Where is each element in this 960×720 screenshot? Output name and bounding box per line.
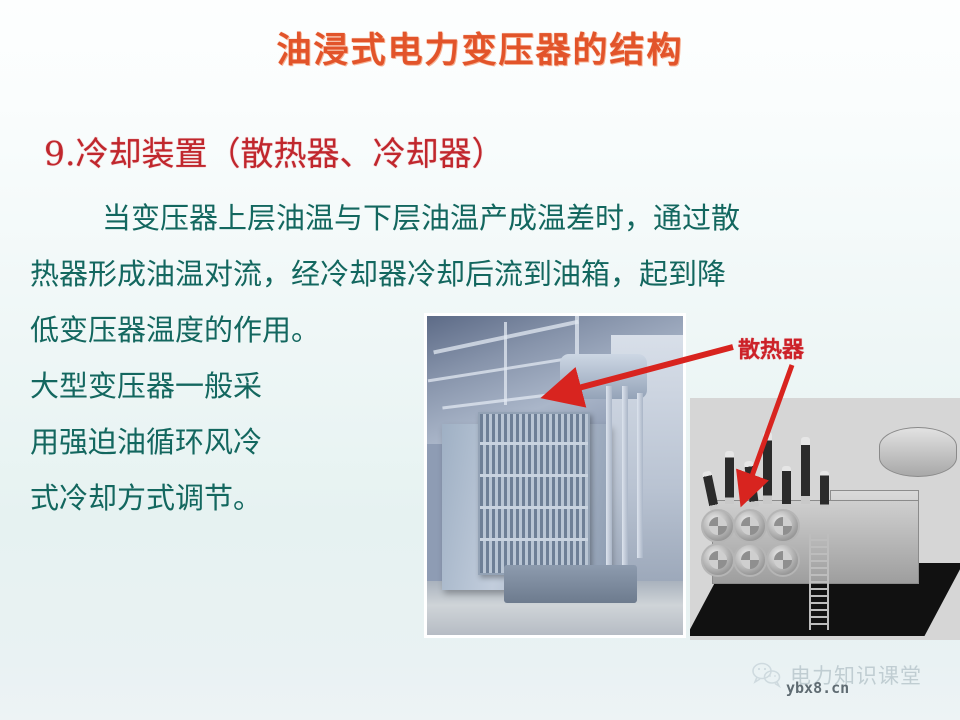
slide-canvas: 油浸式电力变压器的结构 9.冷却装置（散热器、冷却器） 当变压器上层油温与下层油… [0, 0, 960, 720]
photo-riser-pipe [606, 386, 612, 565]
render-cooling-fan [701, 543, 735, 577]
render-cooling-fan [766, 543, 800, 577]
render-conservator-tank [879, 427, 957, 477]
body-line-5: 用强迫油循环风冷 [30, 414, 450, 470]
annotation-label-radiator: 散热器 [738, 332, 804, 364]
photo-riser-pipe [637, 393, 643, 559]
body-line-4: 大型变压器一般采 [30, 358, 450, 414]
photo-base-frame [504, 565, 637, 603]
photo-riser-pipe [622, 386, 628, 565]
section-heading: 9.冷却装置（散热器、冷却器） [44, 127, 505, 175]
render-ladder [809, 534, 829, 631]
render-cooling-fan [766, 509, 800, 543]
cooler-transformer-render [690, 398, 960, 640]
render-cooling-fan [701, 509, 735, 543]
photo-transformer-tank [560, 354, 647, 399]
wechat-icon [752, 662, 782, 688]
render-bushing [820, 471, 829, 510]
photo-column [504, 322, 507, 405]
render-bushing [801, 437, 810, 505]
watermark-url: ybx8.cn [786, 679, 849, 697]
render-bushing [725, 451, 734, 504]
render-bushing [702, 470, 719, 510]
photo-radiator [478, 412, 590, 576]
body-line-2: 热器形成油温对流，经冷却器冷却后流到油箱，起到降 [30, 246, 930, 302]
render-bushing [782, 466, 791, 510]
render-bushing [763, 432, 772, 505]
body-line-6: 式冷却方式调节。 [30, 470, 450, 526]
factory-transformer-photo [424, 313, 686, 638]
body-line-1: 当变压器上层油温与下层油温产成温差时，通过散 [30, 190, 930, 246]
page-title: 油浸式电力变压器的结构 [0, 22, 960, 73]
